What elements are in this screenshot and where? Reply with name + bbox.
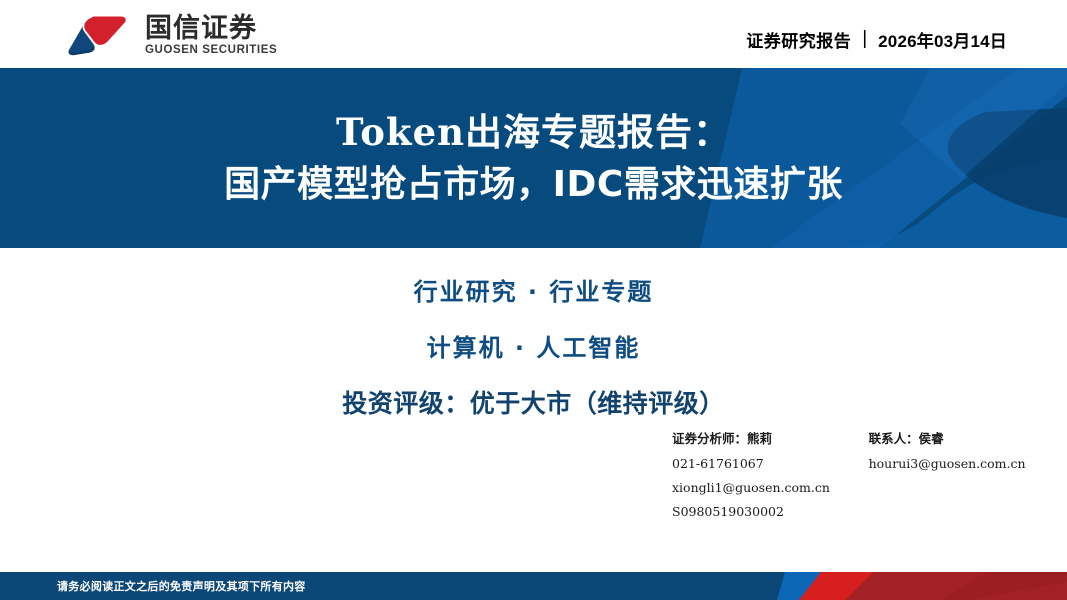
analyst-email: xiongli1@guosen.com.cn	[672, 480, 855, 495]
report-type-label: 证券研究报告	[746, 27, 851, 52]
brand-lockup: 国信证券 GUOSEN SECURITIES	[62, 14, 277, 57]
brand-name-cn: 国信证券	[145, 15, 277, 42]
report-date: 2026年03月14日	[878, 27, 1007, 52]
research-sector: 计算机 · 人工智能	[0, 328, 1067, 363]
investment-rating: 投资评级：优于大市（维持评级）	[0, 384, 1067, 420]
analyst-license-number: S0980519030002	[672, 504, 855, 519]
title-banner: Token出海专题报告： 国产模型抢占市场，IDC需求迅速扩张	[0, 68, 1067, 248]
banner-title-group: Token出海专题报告： 国产模型抢占市场，IDC需求迅速扩张	[0, 68, 1067, 248]
research-category: 行业研究 · 行业专题	[0, 272, 1067, 307]
header-separator: |	[862, 29, 867, 48]
header-meta: 证券研究报告 | 2026年03月14日	[746, 27, 1007, 52]
report-cover-page: 国信证券 GUOSEN SECURITIES 证券研究报告 | 2026年03月…	[0, 0, 1067, 600]
analyst-column: 证券分析师：熊莉 021-61761067 xiongli1@guosen.co…	[672, 428, 855, 528]
report-meta-block: 行业研究 · 行业专题 计算机 · 人工智能 投资评级：优于大市（维持评级）	[0, 272, 1067, 420]
associate-column: 联系人：侯睿 hourui3@guosen.com.cn	[869, 428, 1032, 528]
footer-decoration-graphic	[777, 572, 1067, 600]
report-title-line-2: 国产模型抢占市场，IDC需求迅速扩张	[224, 162, 843, 207]
brand-name-en: GUOSEN SECURITIES	[145, 45, 277, 57]
associate-email: hourui3@guosen.com.cn	[869, 456, 1032, 471]
guosen-logo-icon	[62, 14, 136, 57]
analyst-phone: 021-61761067	[672, 456, 855, 471]
brand-text: 国信证券 GUOSEN SECURITIES	[145, 15, 277, 57]
footer-disclaimer: 请务必阅读正文之后的免责声明及其项下所有内容	[57, 572, 306, 600]
analyst-name: 证券分析师：熊莉	[672, 428, 855, 447]
contacts-block: 证券分析师：熊莉 021-61761067 xiongli1@guosen.co…	[672, 428, 1032, 528]
page-footer: 请务必阅读正文之后的免责声明及其项下所有内容	[0, 572, 1067, 600]
report-title-line-1: Token出海专题报告：	[336, 109, 731, 155]
page-header: 国信证券 GUOSEN SECURITIES 证券研究报告 | 2026年03月…	[0, 0, 1067, 68]
associate-name: 联系人：侯睿	[869, 428, 1032, 447]
